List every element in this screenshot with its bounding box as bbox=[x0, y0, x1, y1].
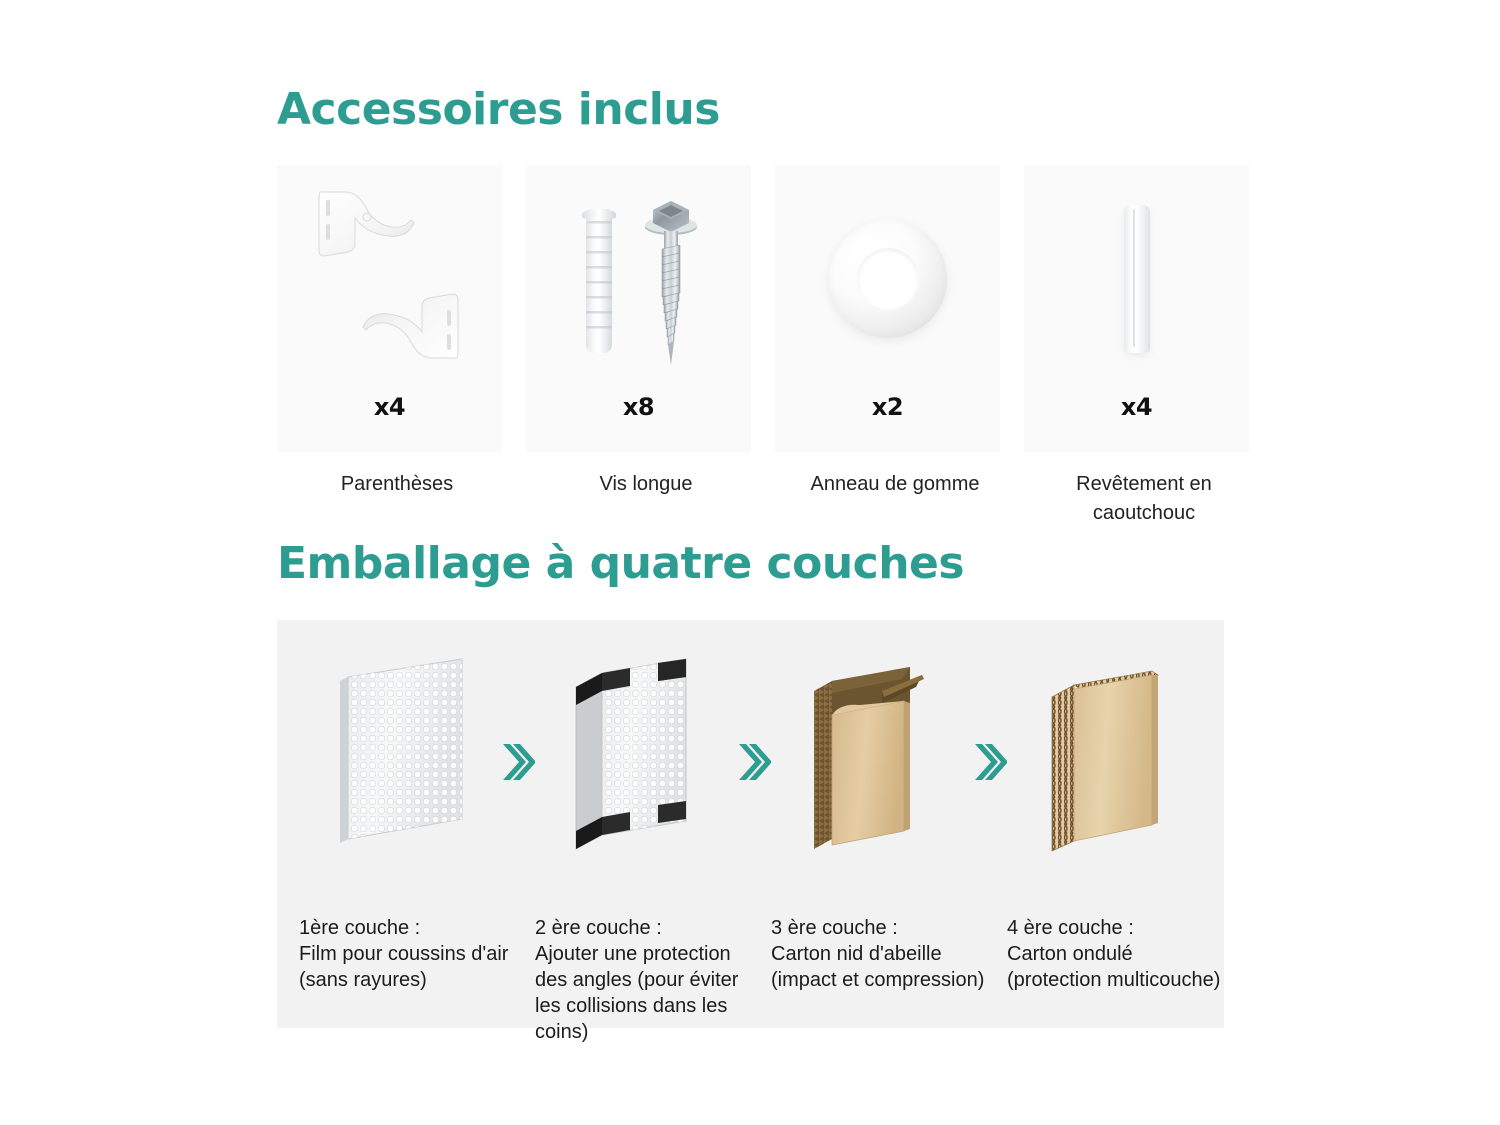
accessory-quantity: x2 bbox=[872, 393, 903, 421]
packaging-step-1-visual bbox=[299, 640, 514, 865]
layer-description: Ajouter une protection des angles (pour … bbox=[535, 941, 757, 1045]
layer-description: Carton ondulé (protection multicouche) bbox=[1007, 941, 1229, 993]
rubber-o-ring-icon bbox=[829, 220, 947, 338]
layer-title: 3 ère couche : bbox=[771, 915, 993, 941]
packaging-step-4-text: 4 ère couche : Carton ondulé (protection… bbox=[1007, 915, 1229, 993]
packaging-step-1-text: 1ère couche : Film pour coussins d'air (… bbox=[299, 915, 521, 993]
packaging-heading: Emballage à quatre couches bbox=[277, 538, 964, 590]
layer-title: 4 ère couche : bbox=[1007, 915, 1229, 941]
rubber-sleeve-icon bbox=[1124, 205, 1150, 353]
wall-bracket-lower-icon bbox=[357, 288, 462, 360]
packaging-step-4: 4 ère couche : Carton ondulé (protection… bbox=[1007, 640, 1222, 1025]
layer-description: Carton nid d'abeille (impact et compress… bbox=[771, 941, 993, 993]
layer-title: 1ère couche : bbox=[299, 915, 521, 941]
anchor-and-screw-icon bbox=[574, 187, 704, 372]
packaging-step-2-text: 2 ère couche : Ajouter une protection de… bbox=[535, 915, 757, 1045]
packaging-panel: 1ère couche : Film pour coussins d'air (… bbox=[277, 620, 1224, 1028]
accessory-card-brackets: x4 Parenthèses bbox=[277, 165, 502, 452]
bracket-figure bbox=[277, 165, 502, 393]
accessory-caption: Parenthèses bbox=[277, 470, 517, 499]
oring-figure bbox=[775, 165, 1000, 393]
packaging-steps: 1ère couche : Film pour coussins d'air (… bbox=[277, 620, 1224, 1028]
packaging-step-3-text: 3 ère couche : Carton nid d'abeille (imp… bbox=[771, 915, 993, 993]
accessory-caption: Revêtement en caoutchouc bbox=[1024, 470, 1264, 528]
accessories-card-row: x4 Parenthèses bbox=[277, 165, 1225, 455]
accessory-caption: Anneau de gomme bbox=[775, 470, 1015, 499]
corner-protector-panel-icon bbox=[568, 653, 718, 853]
packaging-step-2: 2 ère couche : Ajouter une protection de… bbox=[535, 640, 750, 1025]
double-chevron-right-icon bbox=[735, 740, 771, 784]
accessory-quantity: x4 bbox=[1121, 393, 1152, 421]
layer-title: 2 ère couche : bbox=[535, 915, 757, 941]
packaging-step-3-visual bbox=[771, 640, 986, 865]
bubble-wrap-panel-icon bbox=[332, 653, 482, 853]
layer-description: Film pour coussins d'air (sans rayures) bbox=[299, 941, 521, 993]
accessory-card-rubber-sleeve: x4 Revêtement en caoutchouc bbox=[1024, 165, 1249, 452]
accessory-caption: Vis longue bbox=[526, 470, 766, 499]
accessory-quantity: x4 bbox=[374, 393, 405, 421]
accessory-card-oring: x2 Anneau de gomme bbox=[775, 165, 1000, 452]
hex-head-screw-icon bbox=[642, 195, 700, 370]
accessories-heading: Accessoires inclus bbox=[277, 84, 720, 136]
screw-figure bbox=[526, 165, 751, 393]
anchor-ribs bbox=[586, 221, 612, 341]
sleeve-figure bbox=[1024, 165, 1249, 393]
packaging-step-2-visual bbox=[535, 640, 750, 865]
double-chevron-right-icon bbox=[971, 740, 1007, 784]
wall-bracket-upper-icon bbox=[315, 190, 420, 262]
corrugated-cardboard-panel-icon bbox=[1040, 653, 1190, 853]
accessory-card-screws: x8 Vis longue bbox=[526, 165, 751, 452]
infographic-page: Accessoires inclus bbox=[0, 0, 1500, 1125]
honeycomb-cardboard-panel-icon bbox=[804, 653, 954, 853]
double-chevron-right-icon bbox=[499, 740, 535, 784]
wall-bracket-pair-icon bbox=[305, 184, 475, 374]
wall-anchor-icon bbox=[586, 209, 612, 353]
packaging-step-4-visual bbox=[1007, 640, 1222, 865]
accessory-quantity: x8 bbox=[623, 393, 654, 421]
packaging-step-3: 3 ère couche : Carton nid d'abeille (imp… bbox=[771, 640, 986, 1025]
packaging-step-1: 1ère couche : Film pour coussins d'air (… bbox=[299, 640, 514, 1025]
